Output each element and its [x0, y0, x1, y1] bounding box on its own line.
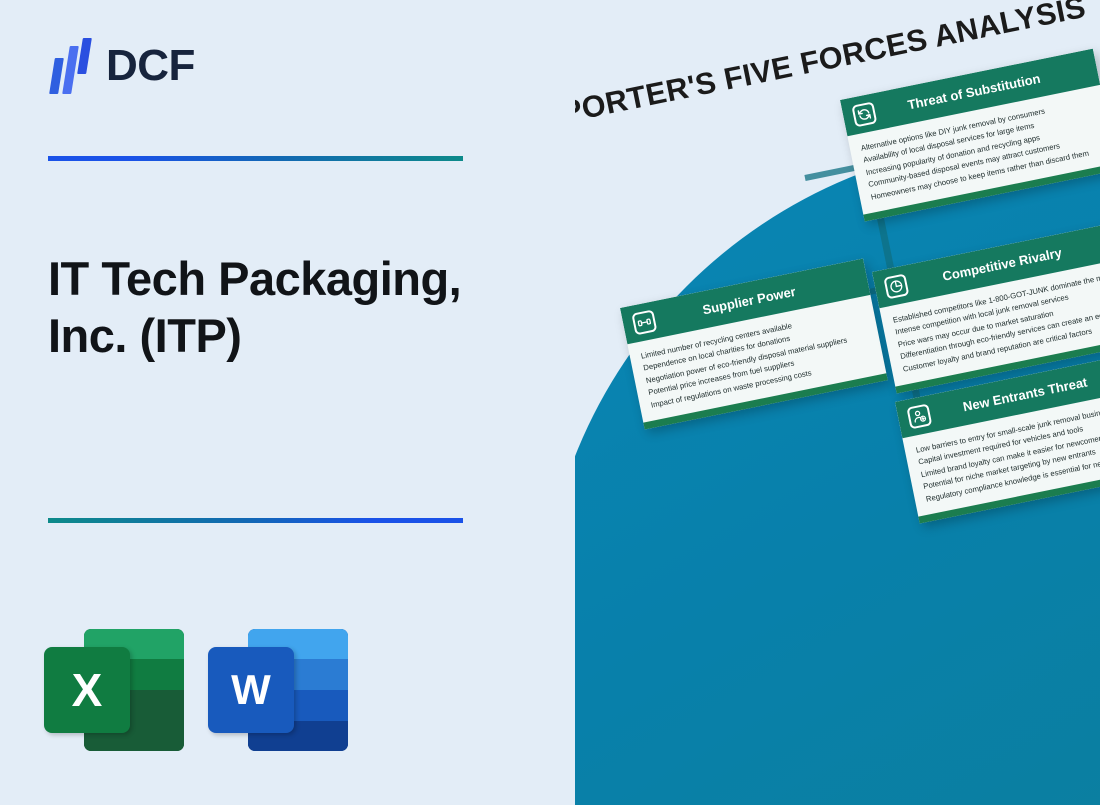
download-format-icons: X W [44, 625, 348, 755]
divider-top [48, 156, 463, 161]
page-title: IT Tech Packaging, Inc. (ITP) [48, 250, 488, 365]
excel-file-icon[interactable]: X [44, 625, 184, 755]
porters-five-forces-graphic: PORTER'S FIVE FORCES ANALYSIS Threat of … [575, 0, 1100, 805]
brand-name: DCF [106, 44, 195, 88]
word-file-icon[interactable]: W [208, 625, 348, 755]
brand-logo[interactable]: DCF [48, 38, 195, 94]
word-badge-letter: W [208, 647, 294, 733]
left-info-panel: DCF IT Tech Packaging, Inc. (ITP) X W [0, 0, 575, 805]
divider-bottom [48, 518, 463, 523]
excel-badge-letter: X [44, 647, 130, 733]
three-bars-logo-icon [48, 38, 92, 94]
